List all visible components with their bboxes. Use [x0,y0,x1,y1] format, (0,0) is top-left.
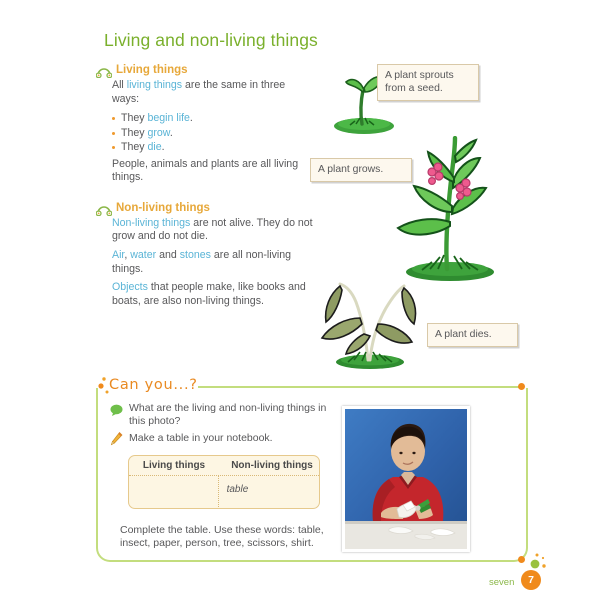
headphones-icon [96,203,112,213]
decorative-dot-icon [518,383,525,390]
nonliving-para-2: Air, water and stones are all non-living… [112,249,314,276]
callout-plant-sprouts: A plant sprouts from a seed. [377,64,479,101]
can-you-instruction: Complete the table. Use these words: tab… [120,524,335,550]
callout-plant-grows: A plant grows. [310,158,412,182]
folio-word: seven [489,577,514,588]
table-header-row: Living things Non-living things [129,456,319,476]
speech-bubble-icon [110,403,123,415]
keyword-water: water [130,249,156,261]
pencil-icon [110,432,123,446]
photo-boy-cutting-paper [342,406,470,552]
can-you-title: Can you...? [109,377,198,393]
keyword-non-living-things: Non-living things [112,217,190,229]
page-title: Living and non-living things [104,30,318,51]
table-column-header-nonliving: Non-living things [219,460,319,471]
keyword-stones: stones [180,249,211,261]
living-closing: People, animals and plants are all livin… [112,158,314,185]
section-heading-label-nonliving: Non-living things [116,202,210,214]
keyword-living-things: living things [127,79,182,91]
keyword-begin-life: begin life [148,112,190,124]
table-cell-living [129,476,219,507]
list-item: They grow. [112,126,314,141]
table-column-header-living: Living things [129,460,219,471]
living-body: All living things are the same in three … [112,79,314,185]
can-you-question-1: What are the living and non-living thing… [110,402,330,428]
folio-number: 7 [521,570,541,590]
section-heading-label-living: Living things [116,64,188,76]
keyword-die: die [148,141,162,153]
table-row: table [129,476,319,507]
can-you-top-rule [198,386,520,388]
can-you-question-2-text: Make a table in your notebook. [129,432,273,445]
table-cell-nonliving: table [219,476,319,507]
nonliving-para-1: Non-living things are not alive. They do… [112,217,314,244]
article-text-column: Living things All living things are the … [96,64,314,315]
section-heading-nonliving: Non-living things [96,202,314,214]
keyword-grow: grow [148,127,170,139]
keyword-objects: Objects [112,281,148,293]
living-bullet-list: They begin life. They grow. They die. [112,111,314,155]
keyword-air: Air [112,249,124,261]
living-intro: All living things are the same in three … [112,79,314,106]
callout-plant-dies: A plant dies. [427,323,518,347]
headphones-icon [96,65,112,75]
notebook-table: Living things Non-living things table [128,455,320,509]
nonliving-body: Non-living things are not alive. They do… [112,217,314,309]
table-cell-value: table [227,484,249,495]
wilted-plant-illustration [312,278,432,370]
can-you-question-2: Make a table in your notebook. [110,432,330,446]
list-item: They die. [112,140,314,155]
can-you-question-1-text: What are the living and non-living thing… [129,402,330,428]
nonliving-para-3: Objects that people make, like books and… [112,281,314,308]
list-item: They begin life. [112,111,314,126]
section-heading-living: Living things [96,64,314,76]
